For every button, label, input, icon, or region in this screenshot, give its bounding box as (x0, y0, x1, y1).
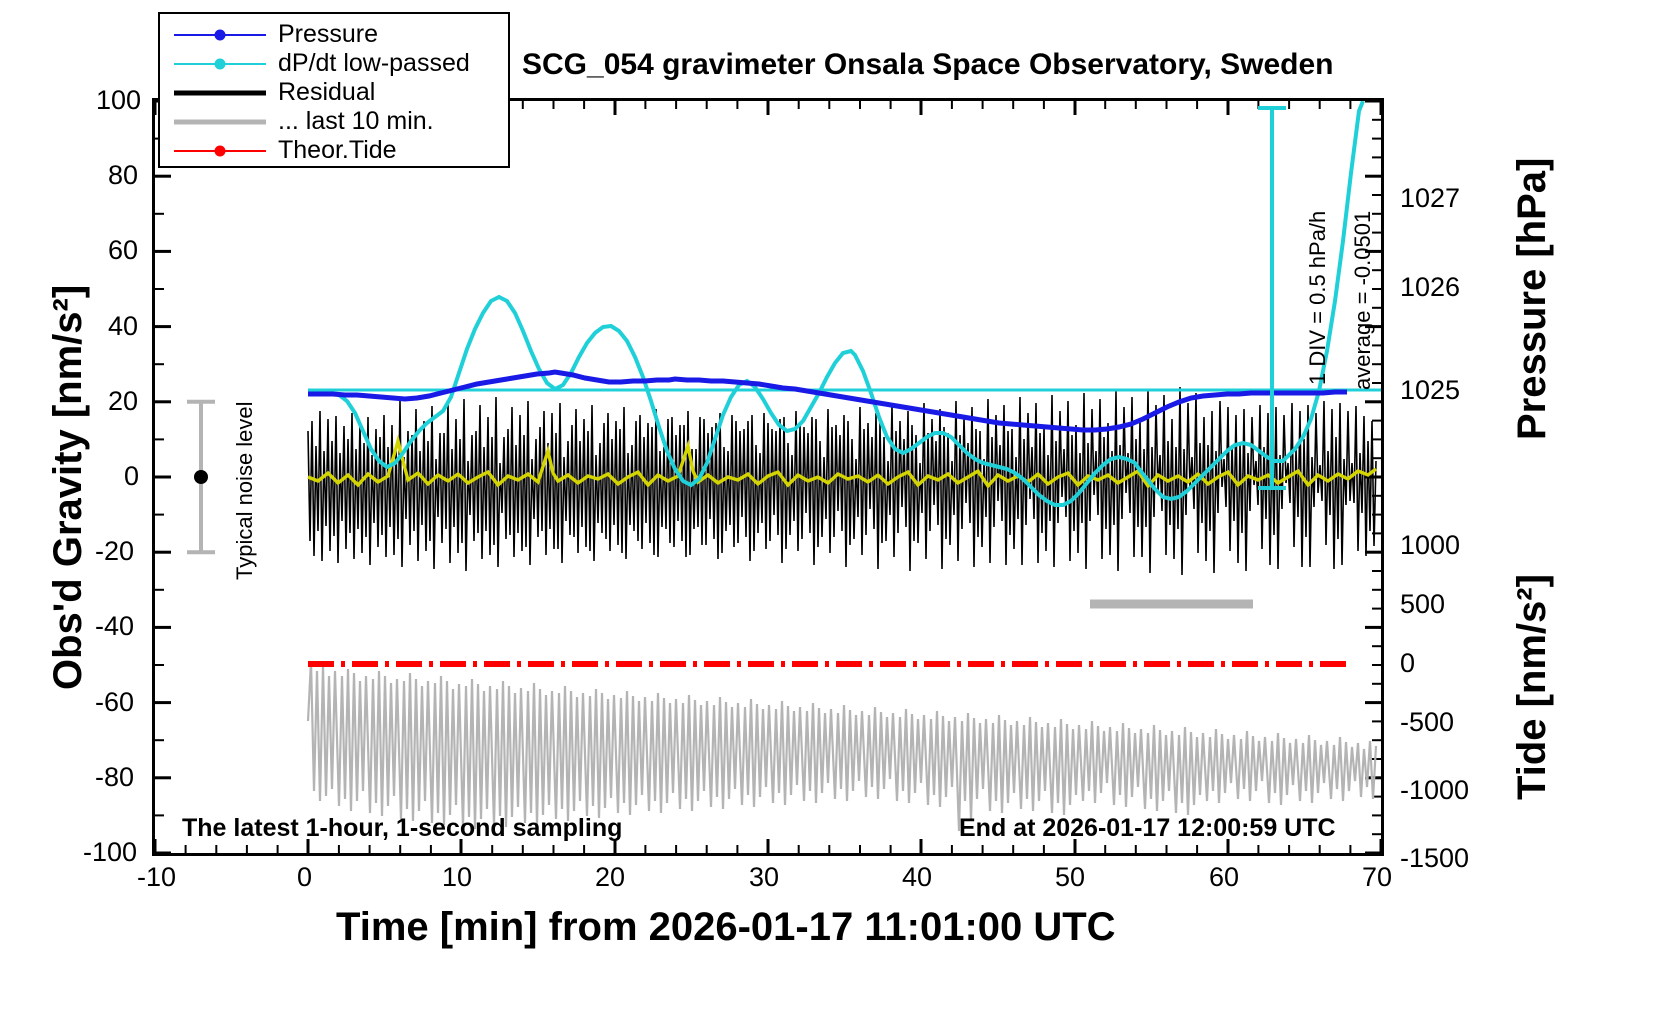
x-tick-label-30: 30 (749, 862, 779, 893)
legend-item-pressure: Pressure (160, 20, 508, 49)
noise-level-label: Typical noise level (232, 401, 258, 580)
y-tick-label--80: -80 (95, 762, 134, 793)
legend-label-residual: Residual (278, 78, 375, 107)
legend-label-last10: ... last 10 min. (278, 107, 434, 136)
x-axis-title: Time [min] from 2026-01-17 11:01:00 UTC (336, 905, 1116, 950)
pressure-tick-label-1026: 1026 (1400, 272, 1460, 303)
dpdt-div-label: 1 DIV = 0.5 hPa/h (1305, 211, 1331, 385)
x-tick-label-50: 50 (1055, 862, 1085, 893)
x-tick-label-0: 0 (297, 862, 312, 893)
legend-label-theortide: Theor.Tide (278, 136, 397, 165)
x-tick-label-10: 10 (442, 862, 472, 893)
x-tick-label-60: 60 (1209, 862, 1239, 893)
legend: Pressure dP/dt low-passed Residual ... l… (158, 12, 510, 168)
x-tick-label-70: 70 (1362, 862, 1392, 893)
dpdt-average-label: average = -0.0501 (1350, 211, 1376, 390)
noise-level-center-dot (194, 470, 208, 484)
y-tick-label--100: -100 (83, 837, 137, 868)
legend-swatch-last10 (174, 112, 266, 132)
tide-tick-label-500: 500 (1400, 589, 1445, 620)
legend-item-last10: ... last 10 min. (160, 107, 508, 136)
tide-tick-label-1000: 1000 (1400, 530, 1460, 561)
plot-area (152, 98, 1384, 856)
legend-swatch-theortide (174, 141, 266, 161)
plot-svg (155, 101, 1381, 853)
y-tick-label--60: -60 (95, 687, 134, 718)
pressure-tick-label-1025: 1025 (1400, 375, 1460, 406)
tide-tick-label--1500: -1500 (1400, 843, 1469, 874)
y-tick-label-80: 80 (108, 160, 138, 191)
chart-title: SCG_054 gravimeter Onsala Space Observat… (522, 48, 1334, 82)
pressure-tick-label-1027: 1027 (1400, 183, 1460, 214)
legend-label-dpdt: dP/dt low-passed (278, 49, 470, 78)
y-axis-title-gravity: Obs'd Gravity [nm/s²] (46, 285, 91, 690)
y-tick-label-20: 20 (108, 386, 138, 417)
legend-swatch-residual (174, 83, 266, 103)
dpdt-scale-bar (1250, 100, 1294, 500)
series-last10min (308, 661, 1376, 831)
end-time-note: End at 2026-01-17 12:00:59 UTC (959, 814, 1336, 843)
y-tick-label--40: -40 (95, 611, 134, 642)
y-tick-label-100: 100 (96, 85, 141, 116)
legend-item-dpdt: dP/dt low-passed (160, 49, 508, 78)
y-tick-label-40: 40 (108, 311, 138, 342)
tide-tick-label-0: 0 (1400, 648, 1415, 679)
tide-tick-label--1000: -1000 (1400, 775, 1469, 806)
legend-label-pressure: Pressure (278, 20, 378, 49)
y-axis-title-tide: Tide [nm/s²] (1510, 574, 1555, 800)
legend-item-residual: Residual (160, 78, 508, 107)
x-tick-label-40: 40 (902, 862, 932, 893)
x-tick-label-20: 20 (595, 862, 625, 893)
y-tick-label-60: 60 (108, 235, 138, 266)
legend-swatch-pressure (174, 25, 266, 45)
y-tick-label-0: 0 (124, 461, 139, 492)
legend-swatch-dpdt (174, 54, 266, 74)
y-tick-label--20: -20 (95, 536, 134, 567)
legend-item-theortide: Theor.Tide (160, 136, 508, 165)
x-tick-label--10: -10 (137, 862, 176, 893)
y-axis-title-pressure: Pressure [hPa] (1510, 158, 1555, 440)
sampling-note: The latest 1-hour, 1-second sampling (182, 814, 622, 843)
tide-tick-label--500: -500 (1400, 707, 1454, 738)
